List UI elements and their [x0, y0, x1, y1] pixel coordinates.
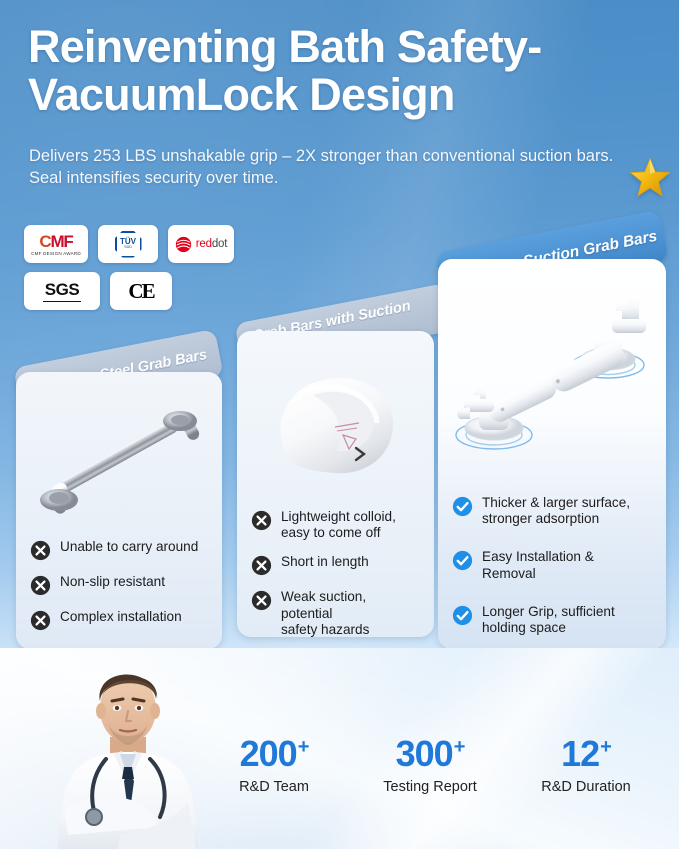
- stat-item-rd-duration: 12+ R&D Duration: [508, 736, 664, 795]
- feature-item: Complex installation: [30, 609, 208, 631]
- stat-number: 200+: [240, 736, 309, 772]
- stat-item-testing-report: 300+ Testing Report: [352, 736, 508, 795]
- badge-cmf-design-award: CMF CMF DESIGN AWARD: [24, 225, 88, 263]
- x-mark-icon: [251, 510, 272, 531]
- cmf-logo-icon: CMF: [39, 233, 72, 250]
- feature-text: Longer Grip, sufficient holding space: [482, 604, 615, 636]
- stat-label: Testing Report: [352, 779, 508, 795]
- badge-sgs: SGS: [24, 272, 100, 310]
- card-panel-stainless-steel: Unable to carry around Non-slip resistan…: [16, 372, 222, 649]
- card-panel-suction-cups: Lightweight colloid, easy to come off Sh…: [237, 331, 434, 637]
- feature-text: Weak suction, potential safety hazards: [281, 589, 420, 637]
- feature-text: Short in length: [281, 554, 369, 570]
- reddot-swirl-icon: [175, 236, 192, 253]
- stat-plus: +: [454, 737, 465, 757]
- feature-item: Easy Installation & Removal: [452, 549, 652, 581]
- feature-list-suction-cups: Lightweight colloid, easy to come off Sh…: [237, 509, 434, 637]
- stat-label: R&D Duration: [508, 779, 664, 795]
- suction-cup-grab-bar-image: [261, 365, 417, 489]
- comparison-card-stainless-steel[interactable]: Stainless Steel Grab Bars: [0, 330, 235, 650]
- stats-list: 200+ R&D Team 300+ Testing Report 12+ R&…: [196, 736, 666, 795]
- stat-label: R&D Team: [196, 779, 352, 795]
- tuv-octagon-icon: TÜV SÜD: [115, 231, 142, 258]
- feature-list-stainless-steel: Unable to carry around Non-slip resistan…: [16, 539, 222, 644]
- ce-label: CE: [128, 279, 153, 304]
- badge-ce: CE: [110, 272, 172, 310]
- hero-subtitle: Delivers 253 LBS unshakable grip – 2X st…: [29, 146, 629, 190]
- award-star-icon: [629, 157, 671, 199]
- stats-section: 200+ R&D Team 300+ Testing Report 12+ R&…: [0, 648, 679, 849]
- headline-line-2: VacuumLock Design: [28, 71, 638, 119]
- feature-item: Thicker & larger surface, stronger adsor…: [452, 495, 652, 527]
- stat-item-rd-team: 200+ R&D Team: [196, 736, 352, 795]
- feature-item: Lightweight colloid, easy to come off: [251, 509, 420, 541]
- feature-text: Complex installation: [60, 609, 182, 625]
- stat-number: 300+: [396, 736, 465, 772]
- card-panel-stronger-suction: Thicker & larger surface, stronger adsor…: [438, 259, 666, 649]
- x-mark-icon: [251, 590, 272, 611]
- stat-number: 12+: [561, 736, 611, 772]
- stat-plus: +: [298, 737, 309, 757]
- stat-value: 200: [240, 736, 297, 772]
- headline-line-1: Reinventing Bath Safety-: [28, 21, 541, 72]
- feature-text: Non-slip resistant: [60, 574, 165, 590]
- x-mark-icon: [30, 610, 51, 631]
- badge-reddot: reddot: [168, 225, 234, 263]
- feature-text: Thicker & larger surface, stronger adsor…: [482, 495, 630, 527]
- x-mark-icon: [30, 575, 51, 596]
- x-mark-icon: [251, 555, 272, 576]
- stat-value: 300: [396, 736, 453, 772]
- feature-text: Easy Installation & Removal: [482, 549, 594, 581]
- feature-list-stronger-suction: Thicker & larger surface, stronger adsor…: [438, 495, 666, 649]
- stat-plus: +: [600, 737, 611, 757]
- feature-item: Non-slip resistant: [30, 574, 208, 596]
- check-mark-icon: [452, 550, 473, 571]
- badge-row-top: CMF CMF DESIGN AWARD TÜV SÜD reddot: [24, 225, 284, 263]
- comparison-card-stronger-suction[interactable]: Stronger Suction Grab Bars: [430, 225, 679, 650]
- cmf-label: CMF DESIGN AWARD: [31, 251, 81, 256]
- stronger-suction-grab-bar-image: [448, 287, 660, 467]
- feature-item: Weak suction, potential safety hazards: [251, 589, 420, 637]
- sgs-label: SGS: [43, 280, 81, 302]
- x-mark-icon: [30, 540, 51, 561]
- badge-tuv-sud: TÜV SÜD: [98, 225, 158, 263]
- page-title: Reinventing Bath Safety- VacuumLock Desi…: [28, 23, 638, 118]
- comparison-card-suction-cups[interactable]: Grab Bars with Suction Cups: [225, 295, 445, 650]
- stat-value: 12: [561, 736, 599, 772]
- stainless-steel-grab-bar-image: [30, 398, 208, 520]
- feature-text: Lightweight colloid, easy to come off: [281, 509, 396, 541]
- check-mark-icon: [452, 605, 473, 626]
- feature-item: Longer Grip, sufficient holding space: [452, 604, 652, 636]
- reddot-label: reddot: [196, 238, 227, 250]
- feature-item: Short in length: [251, 554, 420, 576]
- feature-text: Unable to carry around: [60, 539, 198, 555]
- check-mark-icon: [452, 496, 473, 517]
- tuv-sublabel: SÜD: [124, 246, 132, 250]
- feature-item: Unable to carry around: [30, 539, 208, 561]
